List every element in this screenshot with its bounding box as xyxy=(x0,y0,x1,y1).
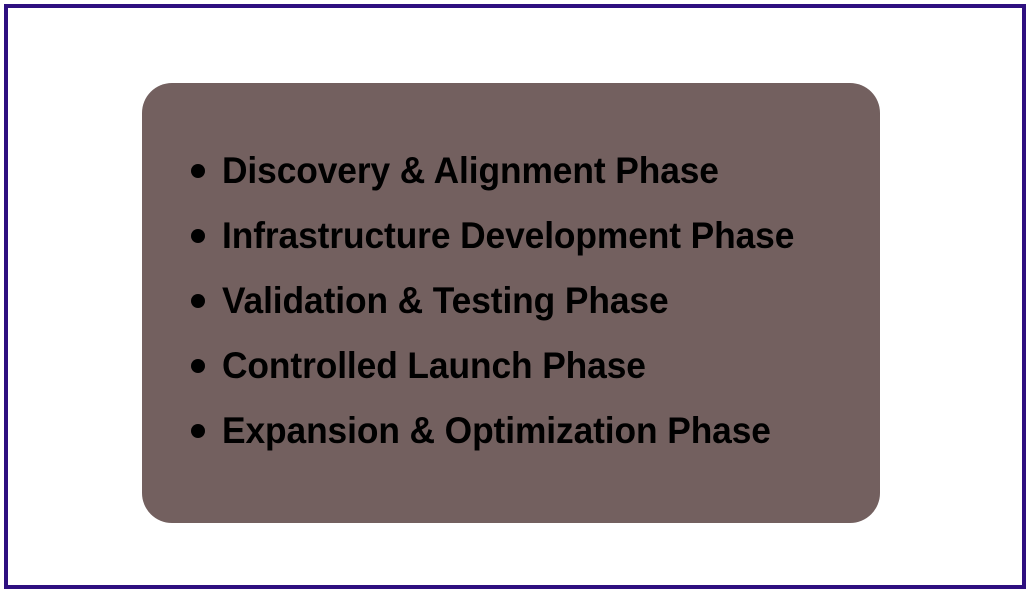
phase-label: Controlled Launch Phase xyxy=(222,347,646,384)
list-item[interactable]: Controlled Launch Phase xyxy=(191,333,821,398)
phase-label: Discovery & Alignment Phase xyxy=(222,152,719,189)
slide-frame: Discovery & Alignment Phase Infrastructu… xyxy=(4,4,1026,589)
phase-card: Discovery & Alignment Phase Infrastructu… xyxy=(142,83,880,523)
filled-circle-bullet-icon xyxy=(191,229,205,243)
list-item[interactable]: Expansion & Optimization Phase xyxy=(191,398,821,463)
phase-label: Validation & Testing Phase xyxy=(222,282,669,319)
filled-circle-bullet-icon xyxy=(191,294,205,308)
filled-circle-bullet-icon xyxy=(191,359,205,373)
filled-circle-bullet-icon xyxy=(191,424,205,438)
list-item[interactable]: Discovery & Alignment Phase xyxy=(191,138,821,203)
phase-label: Expansion & Optimization Phase xyxy=(222,412,771,449)
list-item[interactable]: Infrastructure Development Phase xyxy=(191,203,821,268)
phase-label: Infrastructure Development Phase xyxy=(222,217,794,254)
phase-list: Discovery & Alignment Phase Infrastructu… xyxy=(191,138,821,463)
filled-circle-bullet-icon xyxy=(191,164,205,178)
list-item[interactable]: Validation & Testing Phase xyxy=(191,268,821,333)
